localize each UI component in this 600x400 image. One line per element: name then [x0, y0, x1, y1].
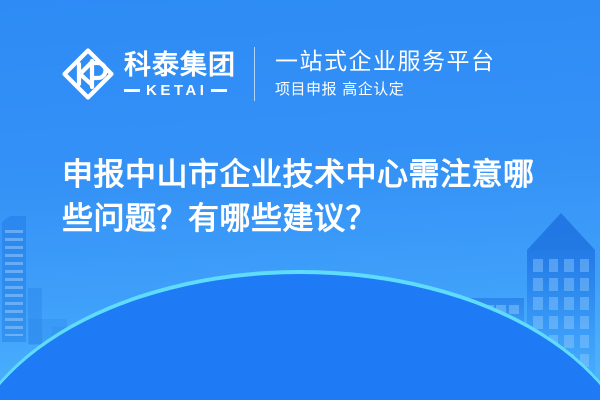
brand-name-en-row: KETAI	[124, 83, 236, 98]
dash-right-icon	[211, 89, 227, 92]
wave-fill	[0, 274, 600, 400]
header-divider	[254, 47, 255, 101]
brand-name-en: KETAI	[146, 83, 207, 98]
bottom-wave-decoration	[0, 270, 600, 400]
ketai-diamond-kp-logo-icon[interactable]	[62, 48, 114, 100]
brand-name-cn: 科泰集团	[124, 51, 236, 81]
tagline-group: 一站式企业服务平台 项目申报 高企认定	[275, 48, 496, 100]
article-cover-banner: 科泰集团 KETAI 一站式企业服务平台 项目申报 高企认定 申报中山市企业技术…	[0, 0, 600, 400]
page-title: 申报中山市企业技术中心需注意哪些问题？有哪些建议？	[62, 153, 562, 241]
dash-left-icon	[124, 89, 140, 92]
tagline-main: 一站式企业服务平台	[275, 48, 496, 76]
brand-wordmark: 科泰集团 KETAI	[124, 46, 236, 102]
tagline-sub: 项目申报 高企认定	[275, 78, 496, 100]
brand-header: 科泰集团 KETAI 一站式企业服务平台 项目申报 高企认定	[62, 38, 496, 110]
